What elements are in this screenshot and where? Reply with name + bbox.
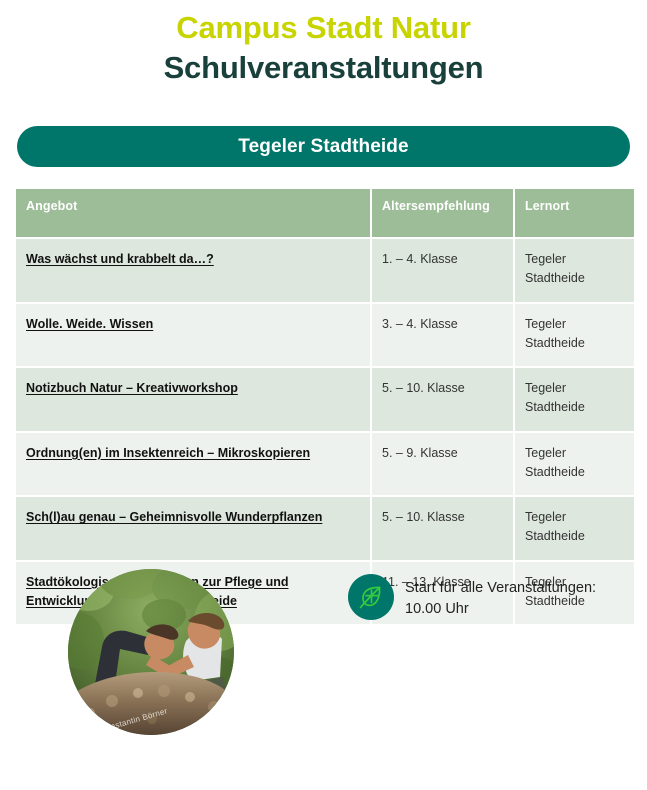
page-header: Campus Stadt Natur Schulveranstaltungen bbox=[0, 0, 647, 87]
offer-cell[interactable]: Notizbuch Natur – Kreativworkshop bbox=[16, 368, 370, 431]
location-banner-label: Tegeler Stadtheide bbox=[238, 136, 408, 158]
column-header-offer: Angebot bbox=[16, 189, 370, 237]
table-header-row: Angebot Altersempfehlung Lernort bbox=[16, 189, 634, 237]
table-row: Notizbuch Natur – Kreativworkshop 5. – 1… bbox=[16, 368, 634, 431]
leaf-icon-glyph bbox=[357, 583, 385, 611]
offer-cell[interactable]: Was wächst und krabbelt da…? bbox=[16, 239, 370, 302]
age-cell: 3. – 4. Klasse bbox=[372, 304, 513, 367]
age-cell: 1. – 4. Klasse bbox=[372, 239, 513, 302]
start-time-text: Start für alle Veranstaltungen: 10.00 Uh… bbox=[405, 572, 596, 619]
place-cell: Tegeler Stadtheide bbox=[515, 239, 634, 302]
page-title-secondary: Schulveranstaltungen bbox=[0, 48, 647, 88]
event-photo-illustration bbox=[68, 569, 234, 735]
offer-link[interactable]: Was wächst und krabbelt da…? bbox=[26, 252, 214, 266]
offer-link[interactable]: Wolle. Weide. Wissen bbox=[26, 317, 153, 331]
offer-cell[interactable]: Sch(l)au genau – Geheimnisvolle Wunderpf… bbox=[16, 497, 370, 560]
leaf-icon bbox=[348, 574, 394, 620]
place-cell: Tegeler Stadtheide bbox=[515, 368, 634, 431]
footer-section: © Konstantin Börner Start für alle Veran… bbox=[0, 560, 647, 790]
start-time-line1: Start für alle Veranstaltungen: bbox=[405, 578, 596, 599]
column-header-age: Altersempfehlung bbox=[372, 189, 513, 237]
offer-cell[interactable]: Wolle. Weide. Wissen bbox=[16, 304, 370, 367]
location-banner: Tegeler Stadtheide bbox=[17, 126, 630, 167]
table-row: Ordnung(en) im Insektenreich – Mikroskop… bbox=[16, 433, 634, 496]
age-cell: 5. – 10. Klasse bbox=[372, 497, 513, 560]
table-row: Sch(l)au genau – Geheimnisvolle Wunderpf… bbox=[16, 497, 634, 560]
location-banner-wrapper: Tegeler Stadtheide bbox=[0, 126, 647, 167]
age-cell: 5. – 10. Klasse bbox=[372, 368, 513, 431]
place-cell: Tegeler Stadtheide bbox=[515, 497, 634, 560]
start-time-line2: 10.00 Uhr bbox=[405, 599, 596, 620]
place-cell: Tegeler Stadtheide bbox=[515, 433, 634, 496]
column-header-place: Lernort bbox=[515, 189, 634, 237]
offer-link[interactable]: Ordnung(en) im Insektenreich – Mikroskop… bbox=[26, 446, 310, 460]
place-cell: Tegeler Stadtheide bbox=[515, 304, 634, 367]
offer-link[interactable]: Sch(l)au genau – Geheimnisvolle Wunderpf… bbox=[26, 510, 322, 524]
table-row: Wolle. Weide. Wissen 3. – 4. Klasse Tege… bbox=[16, 304, 634, 367]
event-photo: © Konstantin Börner bbox=[68, 569, 234, 735]
start-time-note: Start für alle Veranstaltungen: 10.00 Uh… bbox=[348, 572, 596, 620]
offer-link[interactable]: Notizbuch Natur – Kreativworkshop bbox=[26, 381, 238, 395]
offers-table-head: Angebot Altersempfehlung Lernort bbox=[16, 189, 634, 237]
age-cell: 5. – 9. Klasse bbox=[372, 433, 513, 496]
page-title-primary: Campus Stadt Natur bbox=[0, 8, 647, 48]
offer-cell[interactable]: Ordnung(en) im Insektenreich – Mikroskop… bbox=[16, 433, 370, 496]
table-row: Was wächst und krabbelt da…? 1. – 4. Kla… bbox=[16, 239, 634, 302]
